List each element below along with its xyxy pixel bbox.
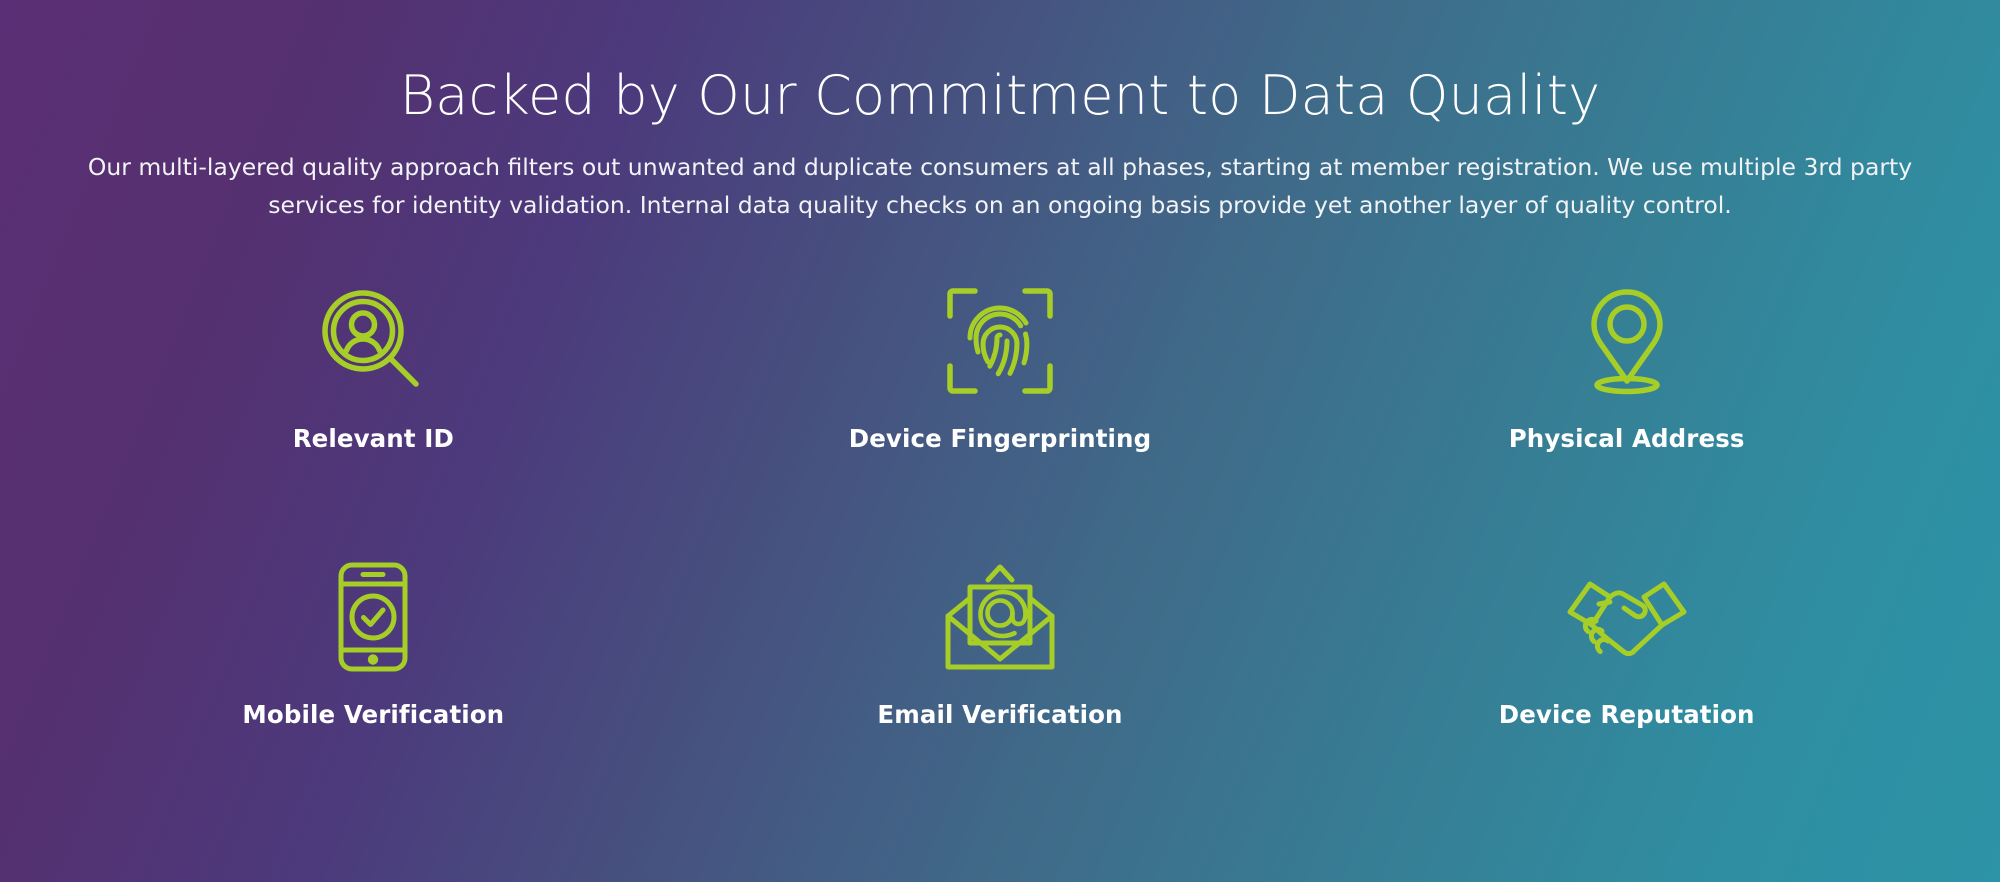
feature-label: Device Fingerprinting [849,424,1151,454]
fingerprint-scan-icon [945,282,1055,400]
feature-label: Physical Address [1509,424,1745,454]
feature-label: Relevant ID [293,424,454,454]
feature-item-device-fingerprinting: Device Fingerprinting [687,282,1314,454]
mobile-check-icon [337,558,409,676]
feature-item-email-verification: Email Verification [687,558,1314,730]
envelope-at-icon [942,558,1058,676]
feature-grid: Relevant ID [0,282,2000,730]
magnifier-person-icon [319,282,427,400]
hero-header: Backed by Our Commitment to Data Quality… [0,0,2000,224]
page-title: Backed by Our Commitment to Data Quality [0,66,2000,126]
feature-item-physical-address: Physical Address [1313,282,1940,454]
hero-description: Our multi-layered quality approach filte… [85,148,1915,224]
data-quality-hero-section: Backed by Our Commitment to Data Quality… [0,0,2000,882]
feature-label: Mobile Verification [242,700,504,730]
map-pin-icon [1579,282,1675,400]
feature-item-relevant-id: Relevant ID [60,282,687,454]
feature-item-mobile-verification: Mobile Verification [60,558,687,730]
handshake-icon [1566,558,1688,676]
feature-label: Email Verification [877,700,1122,730]
feature-label: Device Reputation [1499,700,1755,730]
feature-item-device-reputation: Device Reputation [1313,558,1940,730]
